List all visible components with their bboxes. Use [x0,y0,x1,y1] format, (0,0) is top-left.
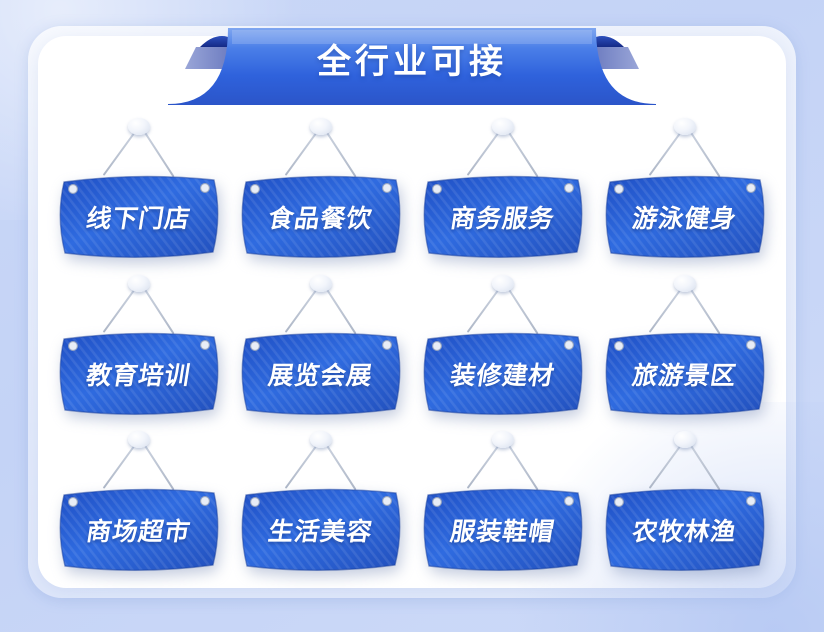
poster-root: 全行业可接 [0,0,824,632]
nail-head-icon [674,275,696,292]
nail-head-icon [310,275,332,292]
hanging-sign-icon [54,170,224,262]
nail-head-icon [492,118,514,135]
nail-head-icon [310,431,332,448]
industry-tag[interactable]: 生活美容 [230,421,412,577]
hanging-sign-icon [600,327,770,419]
nail-head-icon [310,118,332,135]
nail-head-icon [492,275,514,292]
industry-tag[interactable]: 游泳健身 [594,108,776,264]
hanging-sign-icon [54,327,224,419]
hanging-sign-icon [236,483,406,575]
hanging-sign-icon [236,327,406,419]
hanging-sign-icon [54,483,224,575]
industry-tag[interactable]: 教育培训 [48,265,230,421]
page-title: 全行业可接 [0,34,824,83]
industry-tag[interactable]: 服装鞋帽 [412,421,594,577]
nail-head-icon [674,431,696,448]
hanging-sign-icon [236,170,406,262]
nail-head-icon [128,275,150,292]
hanging-sign-icon [418,327,588,419]
industry-tag[interactable]: 展览会展 [230,265,412,421]
industry-tag[interactable]: 商场超市 [48,421,230,577]
industry-tag[interactable]: 食品餐饮 [230,108,412,264]
industry-tag-grid: 线下门店 食品餐饮 [48,108,776,578]
nail-head-icon [492,431,514,448]
hanging-sign-icon [600,170,770,262]
hanging-sign-icon [418,170,588,262]
industry-tag[interactable]: 装修建材 [412,265,594,421]
industry-tag[interactable]: 农牧林渔 [594,421,776,577]
industry-tag[interactable]: 线下门店 [48,108,230,264]
hanging-sign-icon [600,483,770,575]
nail-head-icon [128,118,150,135]
nail-head-icon [128,431,150,448]
hanging-sign-icon [418,483,588,575]
industry-tag[interactable]: 旅游景区 [594,265,776,421]
industry-tag[interactable]: 商务服务 [412,108,594,264]
nail-head-icon [674,118,696,135]
